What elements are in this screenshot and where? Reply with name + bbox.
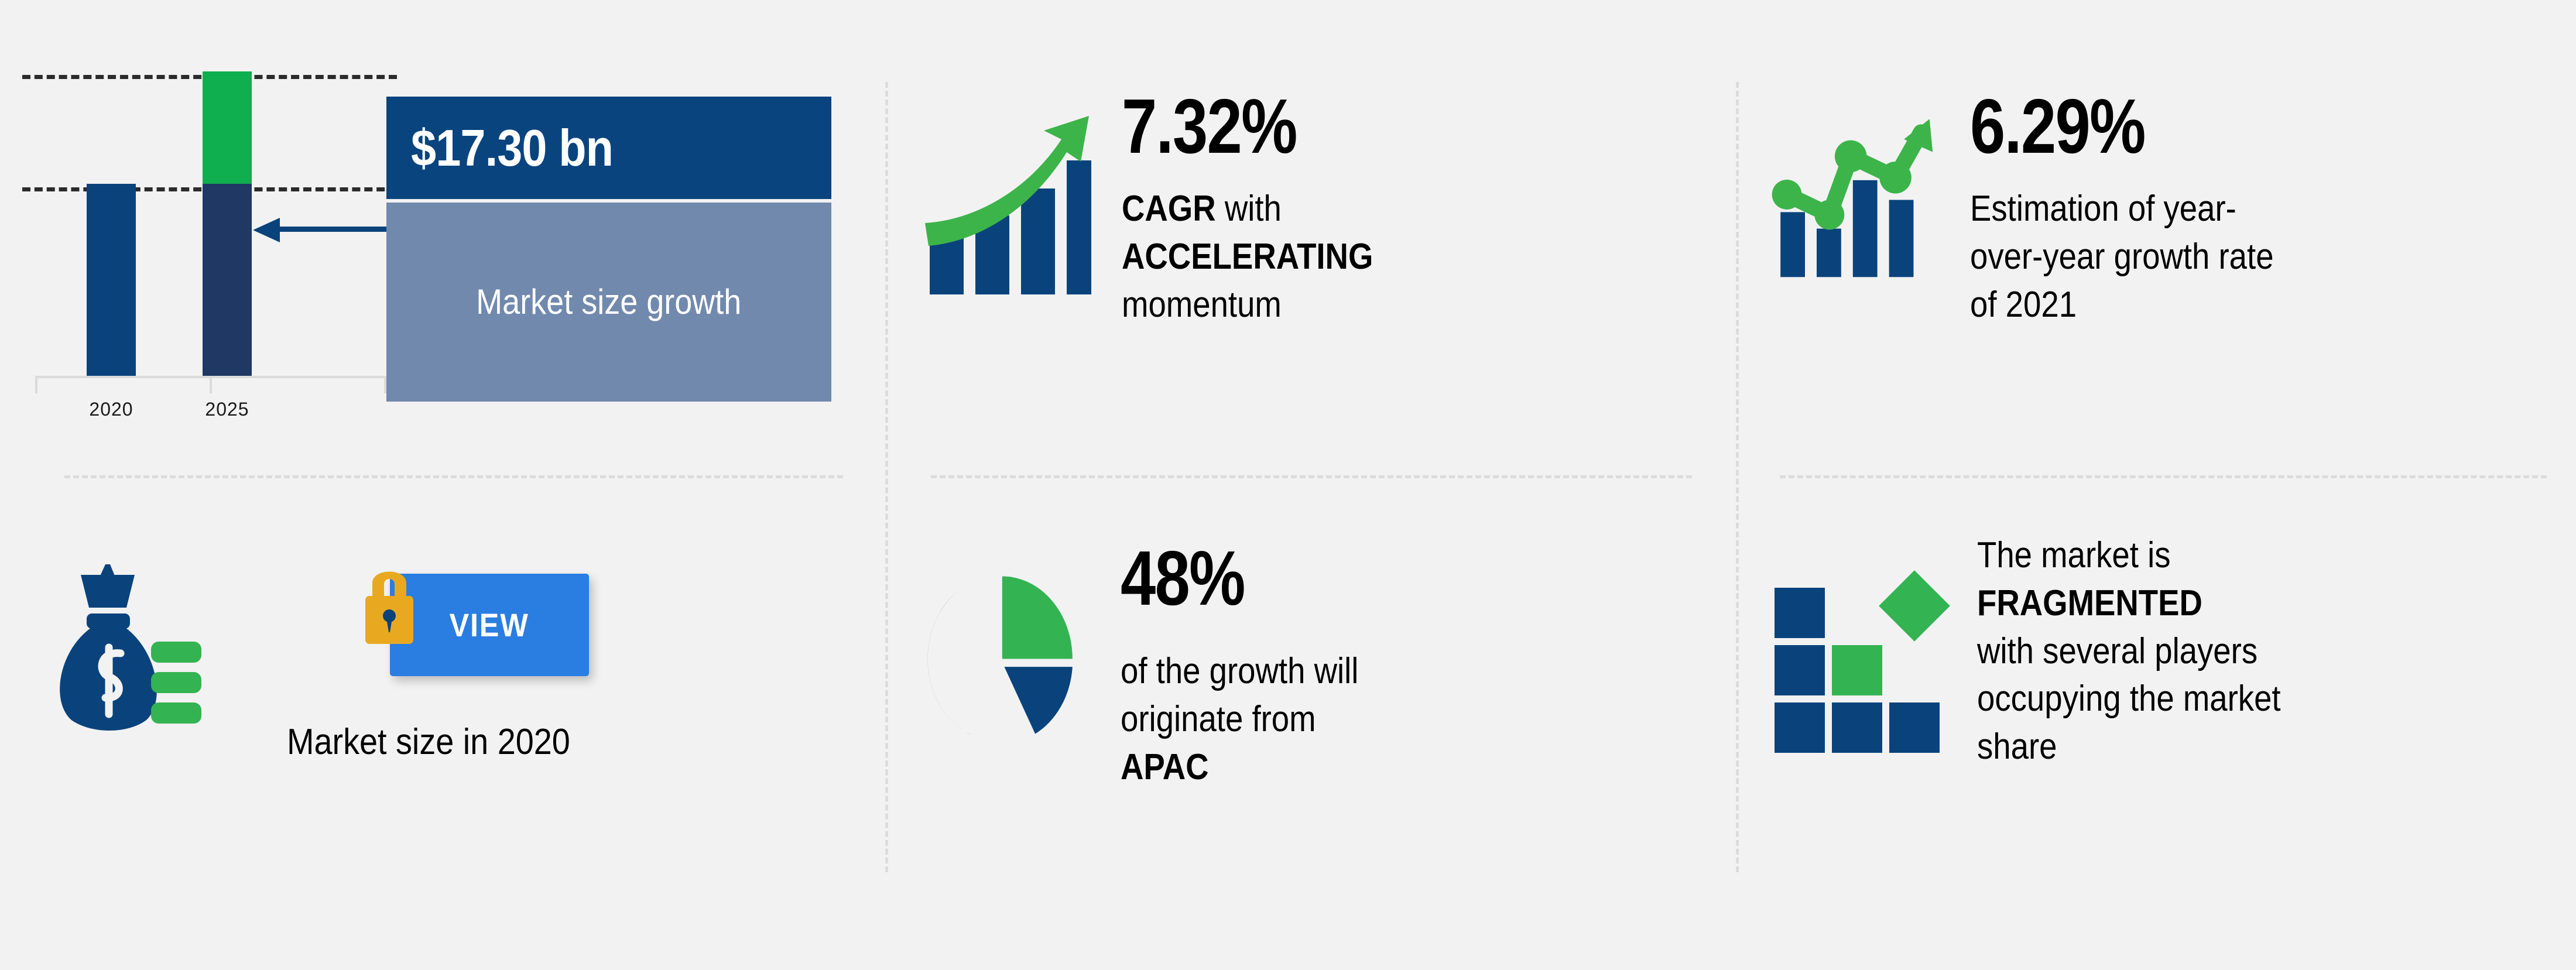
frag-square-r3c3: [1889, 702, 1940, 753]
fragmented-squares-icon: [1775, 588, 1950, 763]
apac-line-2: originate from: [1121, 695, 1358, 743]
bar-2020: [87, 184, 136, 376]
x-axis-tick-start: [35, 378, 37, 393]
view-button-label: VIEW: [450, 606, 529, 644]
cagr-label: CAGR: [1122, 188, 1216, 229]
yoy-line-3: of 2021: [1970, 281, 2274, 329]
line-chart-arrow-up-icon: [1770, 103, 1945, 282]
growth-arrow-bar-chart-icon: [919, 103, 1095, 299]
fragmentation-description: The market is FRAGMENTED with several pl…: [1977, 532, 2281, 771]
cagr-momentum-word: momentum: [1122, 285, 1282, 325]
lock-icon: [351, 557, 427, 660]
fragmentation-text-block: The market is FRAGMENTED with several pl…: [1977, 532, 2322, 771]
frag-line-4: occupying the market: [1977, 675, 2281, 723]
yoy-growth-panel: 6.29% Estimation of year- over-year grow…: [1736, 0, 2576, 475]
frag-diamond: [1879, 570, 1950, 642]
bar-2025-base: [203, 184, 252, 376]
market-size-value-box: $17.30 bn: [386, 97, 831, 199]
yoy-description: Estimation of year- over-year growth rat…: [1970, 185, 2274, 328]
x-axis-label-2025: 2025: [180, 399, 274, 420]
frag-square-r3c1: [1775, 702, 1825, 753]
x-axis-label-2020: 2020: [64, 399, 158, 420]
infographic-canvas: 2020 2025 $17.30 bn Market size growth: [0, 0, 2576, 970]
yoy-value: 6.29%: [1970, 88, 2253, 165]
market-size-2020-caption: Market size in 2020: [287, 721, 570, 763]
frag-square-r3c2: [1832, 702, 1882, 753]
cagr-label-rest: with: [1216, 188, 1282, 229]
apac-value: 48%: [1121, 540, 1342, 617]
cagr-panel: 7.32% CAGR with ACCELERATING momentum: [885, 0, 1736, 475]
market-size-callout: $17.30 bn Market size growth: [386, 97, 831, 402]
market-size-caption-box: Market size growth: [386, 203, 831, 402]
frag-line-3: with several players: [1977, 628, 2281, 676]
frag-square-r1c1: [1775, 588, 1825, 638]
view-button-group[interactable]: VIEW: [351, 557, 585, 692]
market-size-value: $17.30 bn: [411, 118, 613, 178]
market-size-2020-panel: VIEW Market size in 2020: [0, 475, 885, 970]
apac-text-block: 48% of the growth will originate from AP…: [1121, 540, 1391, 791]
cagr-description: CAGR with ACCELERATING momentum: [1122, 185, 1373, 328]
x-axis-tick-mid: [210, 378, 212, 393]
pie-chart-icon: [919, 568, 1095, 746]
frag-line-5: share: [1977, 723, 2281, 771]
frag-emphasis: FRAGMENTED: [1977, 583, 2202, 623]
market-size-bar-chart: 2020 2025: [35, 82, 386, 433]
frag-square-r2c2: [1832, 645, 1882, 695]
fragmentation-panel: The market is FRAGMENTED with several pl…: [1736, 475, 2576, 970]
apac-line-1: of the growth will: [1121, 647, 1358, 695]
market-size-growth-panel: 2020 2025 $17.30 bn Market size growth: [0, 0, 885, 475]
cagr-text-block: 7.32% CAGR with ACCELERATING momentum: [1122, 88, 1407, 328]
apac-growth-panel: 48% of the growth will originate from AP…: [885, 475, 1736, 970]
yoy-line-2: over-year growth rate: [1970, 233, 2274, 281]
money-bag-icon: [35, 557, 211, 736]
bar-2025-growth: [203, 71, 252, 184]
market-size-caption: Market size growth: [476, 280, 741, 325]
frag-square-r2c1: [1775, 645, 1825, 695]
cagr-value: 7.32%: [1122, 88, 1356, 165]
apac-region: APAC: [1121, 747, 1209, 787]
apac-description: of the growth will originate from APAC: [1121, 647, 1358, 791]
frag-line-1: The market is: [1977, 532, 2281, 580]
yoy-line-1: Estimation of year-: [1970, 185, 2274, 233]
yoy-text-block: 6.29% Estimation of year- over-year grow…: [1970, 88, 2315, 328]
cagr-momentum-emphasis: ACCELERATING: [1122, 236, 1373, 277]
